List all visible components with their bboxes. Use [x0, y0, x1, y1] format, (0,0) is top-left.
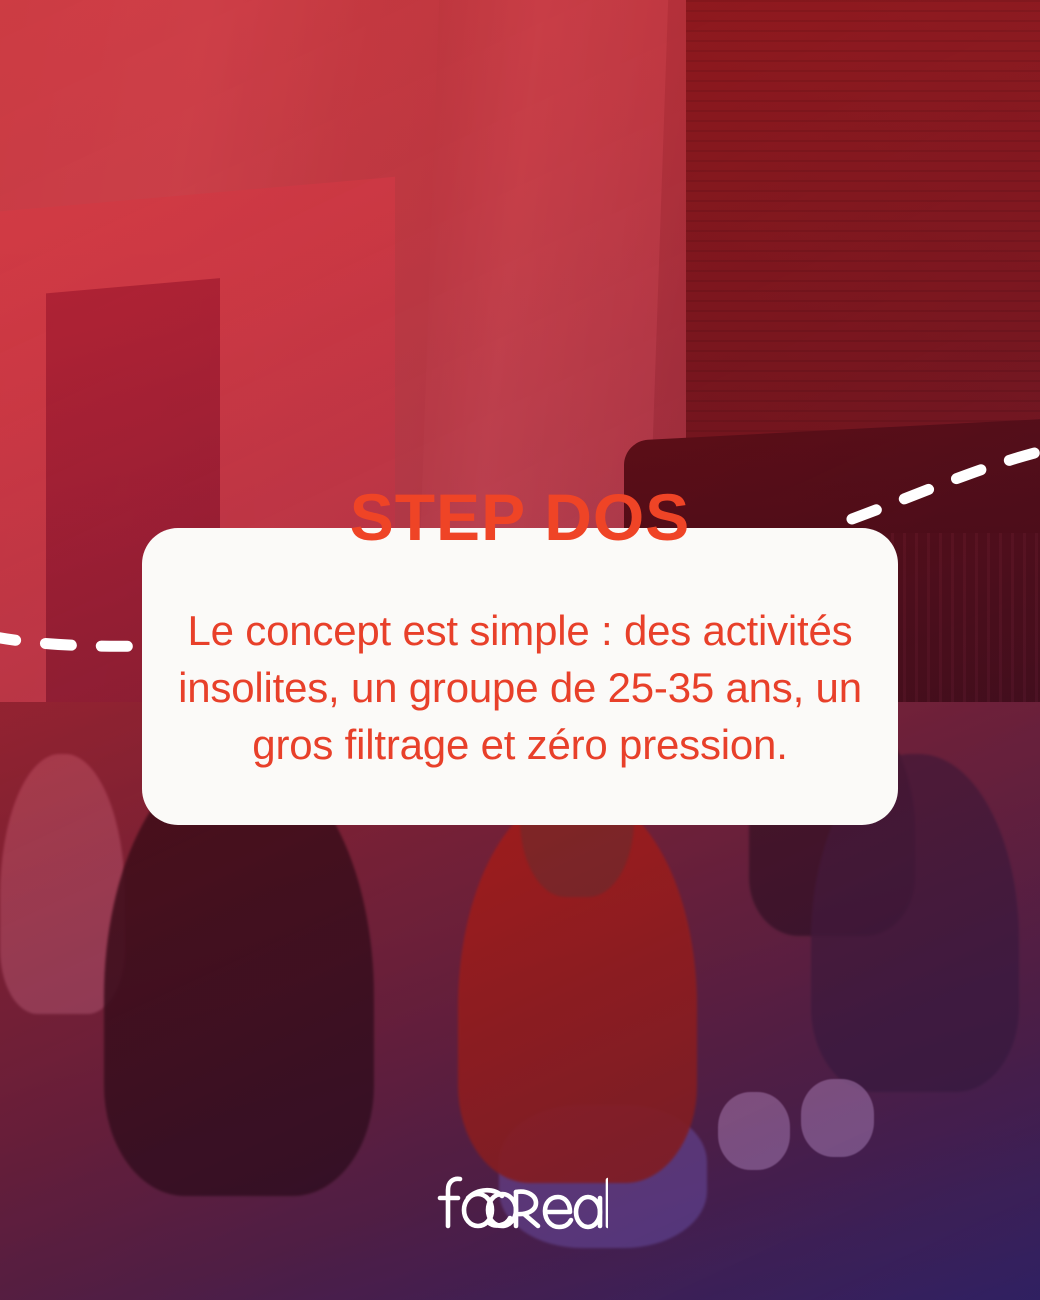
brand-logo: foReal	[0, 1170, 1040, 1234]
concept-line-1: Le concept est simple : des activités	[188, 607, 853, 654]
concept-card: Le concept est simple : des activités in…	[142, 528, 898, 825]
concept-card-text: Le concept est simple : des activités in…	[178, 602, 862, 773]
page-title: STEP DOS	[0, 484, 1040, 550]
foreal-wordmark-icon	[432, 1170, 608, 1234]
concept-line-2: insolites, un groupe de 25-35 ans, un	[178, 664, 862, 711]
poster-canvas: STEP DOS Le concept est simple : des act…	[0, 0, 1040, 1300]
concept-line-3: gros filtrage et zéro pression.	[252, 721, 787, 768]
